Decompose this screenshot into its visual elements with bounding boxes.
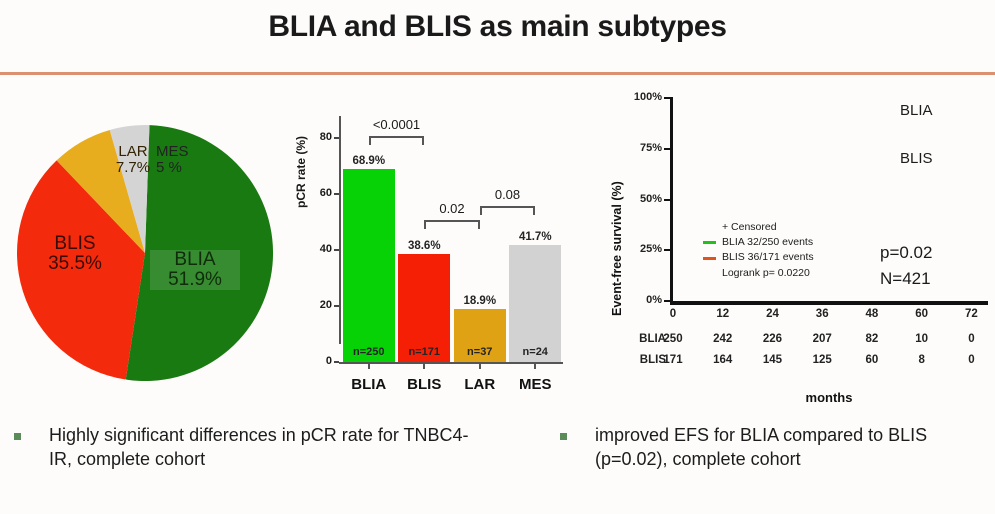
bar-chart-y-tick-label: 40	[310, 243, 332, 255]
risk-table-cell: 171	[651, 354, 695, 366]
pie-slice-name-lar: LAR	[102, 144, 164, 160]
bar-value-label-mes: 41.7%	[509, 231, 561, 243]
bar-chart-x-axis-line	[339, 362, 563, 364]
survival-x-tick-label: 24	[757, 308, 787, 320]
bar-category-label-lar: LAR	[452, 376, 508, 393]
bar-value-label-lar: 18.9%	[454, 295, 506, 307]
survival-chart-stats: p=0.02 N=421	[880, 240, 932, 293]
risk-table-cell: 0	[949, 333, 993, 345]
survival-y-tick-label: 100%	[628, 91, 662, 103]
bullet-text-efs: improved EFS for BLIA compared to BLIS (…	[595, 424, 980, 472]
survival-chart-x-axis-line	[670, 301, 988, 305]
bar-n-label-mes: n=24	[509, 346, 561, 358]
bar-chart-x-tick-mark	[423, 364, 425, 369]
bullet-item-pcr: Highly significant differences in pCR ra…	[14, 424, 484, 472]
risk-table-cell: 242	[701, 333, 745, 345]
survival-chart-x-axis-label: months	[670, 390, 988, 405]
risk-table-cell: 207	[800, 333, 844, 345]
risk-table-cell: 125	[800, 354, 844, 366]
survival-y-tick-label: 25%	[628, 243, 662, 255]
legend-color-dash-blia	[703, 241, 716, 244]
risk-table-row: BLIS1711641451256080	[600, 349, 990, 370]
bar-n-label-lar: n=37	[454, 346, 506, 358]
risk-table-cell: 8	[900, 354, 944, 366]
significance-bracket-blis-lar	[424, 220, 480, 229]
pie-slice-name-blia: BLIA	[150, 250, 240, 270]
bar-chart-y-tick-label: 0	[310, 355, 332, 367]
square-bullet-icon	[14, 433, 21, 440]
survival-x-tick-label: 36	[807, 308, 837, 320]
survival-x-tick-label: 60	[907, 308, 937, 320]
significance-p-value-label: 0.08	[450, 187, 566, 202]
survival-chart-y-axis-label: Event-free survival (%)	[610, 181, 624, 316]
title-divider	[0, 72, 995, 75]
survival-curve-label-blis: BLIS	[900, 150, 933, 167]
number-at-risk-table: BLIA25024222620782100BLIS171164145125608…	[600, 328, 990, 370]
pie-slice-value-blia: 51.9%	[150, 270, 240, 290]
risk-table-cell: 145	[750, 354, 794, 366]
pie-slice-label-blis: BLIS 35.5%	[32, 234, 118, 274]
square-bullet-icon	[560, 433, 567, 440]
bar-value-label-blia: 68.9%	[343, 155, 395, 167]
risk-table-cell: 226	[750, 333, 794, 345]
legend-censored-row: + Censored	[703, 220, 814, 235]
bullet-item-efs: improved EFS for BLIA compared to BLIS (…	[560, 424, 980, 472]
survival-x-tick-label: 48	[857, 308, 887, 320]
legend-series-row-blia: BLIA 32/250 events	[703, 235, 814, 250]
pie-slice-name-mes: MES	[156, 144, 204, 160]
pie-slice-value-mes: 5 %	[156, 160, 204, 176]
bar-column-blia: 68.9%	[343, 169, 395, 362]
bar-chart-y-axis-line	[339, 116, 341, 344]
risk-table-cell: 60	[850, 354, 894, 366]
pie-slice-value-blis: 35.5%	[32, 254, 118, 274]
survival-p-value: p=0.02	[880, 240, 932, 266]
bar-value-label-blis: 38.6%	[398, 240, 450, 252]
risk-table-cell: 10	[900, 333, 944, 345]
bullet-text-pcr: Highly significant differences in pCR ra…	[49, 424, 484, 472]
risk-table-cell: 0	[949, 354, 993, 366]
risk-table-row: BLIA25024222620782100	[600, 328, 990, 349]
bar-chart-y-tick-label: 20	[310, 299, 332, 311]
legend-series-row-blis: BLIS 36/171 events	[703, 250, 814, 265]
bar-rect-mes	[509, 245, 561, 362]
significance-bracket-blia-blis	[369, 136, 425, 145]
bar-chart-y-tick-label: 60	[310, 187, 332, 199]
pie-slice-label-lar: LAR 7.7%	[102, 144, 164, 176]
legend-color-dash-blis	[703, 257, 716, 260]
bar-chart-y-axis-label: pCR rate (%)	[294, 136, 308, 208]
survival-chart-y-axis-line	[670, 97, 673, 303]
survival-y-tick-label: 50%	[628, 193, 662, 205]
survival-chart-legend: + Censored BLIA 32/250 events BLIS 36/17…	[703, 220, 814, 281]
page-title: BLIA and BLIS as main subtypes	[0, 10, 995, 44]
risk-table-cell: 250	[651, 333, 695, 345]
survival-y-tick-label: 0%	[628, 294, 662, 306]
bar-chart-x-tick-mark	[368, 364, 370, 369]
legend-logrank-row: Logrank p= 0.0220	[703, 266, 814, 281]
pie-slice-value-lar: 7.7%	[102, 160, 164, 176]
bar-chart: pCR rate (%) 020406080 68.9%n=250BLIA38.…	[300, 96, 565, 396]
risk-table-cell: 82	[850, 333, 894, 345]
legend-logrank-label: Logrank p= 0.0220	[722, 266, 810, 281]
survival-x-tick-label: 72	[956, 308, 986, 320]
bar-rect-blia	[343, 169, 395, 362]
pie-slice-name-blis: BLIS	[32, 234, 118, 254]
survival-x-tick-label: 12	[708, 308, 738, 320]
pie-slice-label-blia: BLIA 51.9%	[150, 250, 240, 290]
legend-series-label-blis: BLIS 36/171 events	[722, 250, 814, 265]
pie-chart: BLIA 51.9% BLIS 35.5% LAR 7.7% MES 5 %	[14, 122, 276, 384]
significance-bracket-lar-mes	[480, 206, 536, 215]
survival-chart: Event-free survival (%) 0%25%50%75%100% …	[600, 88, 990, 410]
survival-y-tick-label: 75%	[628, 142, 662, 154]
bar-category-label-blis: BLIS	[397, 376, 453, 393]
risk-table-cell: 164	[701, 354, 745, 366]
survival-x-tick-label: 0	[658, 308, 688, 320]
bar-n-label-blis: n=171	[398, 346, 450, 358]
survival-n-total: N=421	[880, 266, 932, 292]
bar-n-label-blia: n=250	[343, 346, 395, 358]
bar-category-label-mes: MES	[508, 376, 564, 393]
bar-chart-y-tick-label: 80	[310, 131, 332, 143]
legend-series-label-blia: BLIA 32/250 events	[722, 235, 813, 250]
bar-column-mes: 41.7%	[509, 245, 561, 362]
bar-chart-x-tick-mark	[479, 364, 481, 369]
bar-category-label-blia: BLIA	[341, 376, 397, 393]
pie-slice-label-mes: MES 5 %	[156, 144, 204, 176]
bar-chart-x-tick-mark	[534, 364, 536, 369]
legend-censored-label: + Censored	[722, 220, 777, 235]
survival-curve-label-blia: BLIA	[900, 102, 933, 119]
significance-p-value-label: <0.0001	[339, 117, 455, 132]
